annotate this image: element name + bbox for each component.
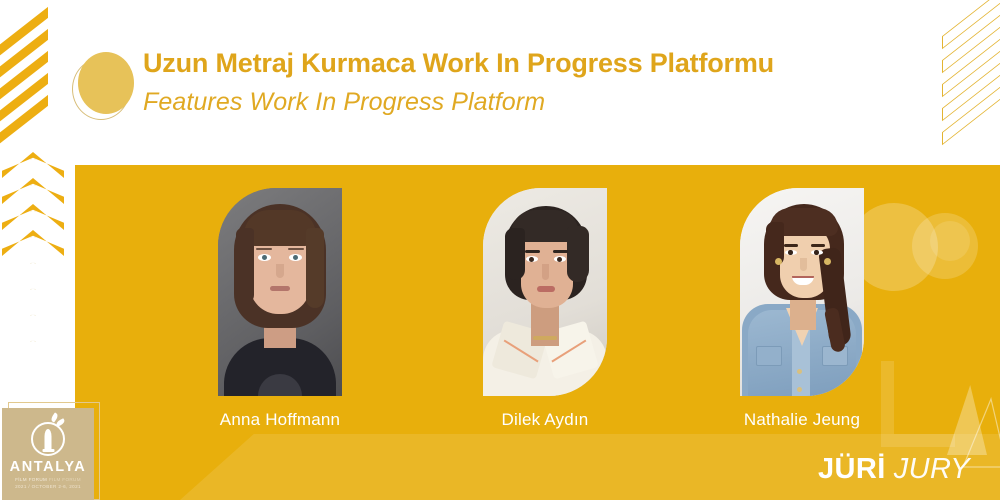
logo-subline-2: 2021 / OCTOBER 2-6, 2021 [2, 484, 94, 489]
list-item-label: Anna Hoffmann [218, 410, 342, 430]
portrait-dilek-aydin [483, 188, 607, 396]
logo-wordmark: ANTALYA [2, 459, 94, 475]
list-item-label: Dilek Aydın [483, 410, 607, 430]
antalya-statue-icon [31, 422, 65, 456]
antalya-film-forum-logo: ANTALYA FİLM FORUM FILM FORUM 2021 / OCT… [2, 408, 94, 500]
logo-subline-en: FILM FORUM [49, 477, 81, 482]
logo-subline-1: FİLM FORUM FILM FORUM [2, 477, 94, 482]
list-item-label: Nathalie Jeung [740, 410, 864, 430]
jury-label-tr: JÜRİ [818, 453, 886, 485]
logo-subline-tr: FİLM FORUM [15, 477, 47, 482]
portrait-anna-hoffmann [218, 188, 342, 396]
jury-label: JÜRİ JURY [818, 453, 970, 486]
jury-members-list: Anna Hoffmann [0, 0, 1000, 500]
jury-label-en: JURY [894, 453, 970, 485]
poster-canvas: Uzun Metraj Kurmaca Work In Progress Pla… [0, 0, 1000, 500]
portrait-nathalie-jeung [740, 188, 864, 396]
